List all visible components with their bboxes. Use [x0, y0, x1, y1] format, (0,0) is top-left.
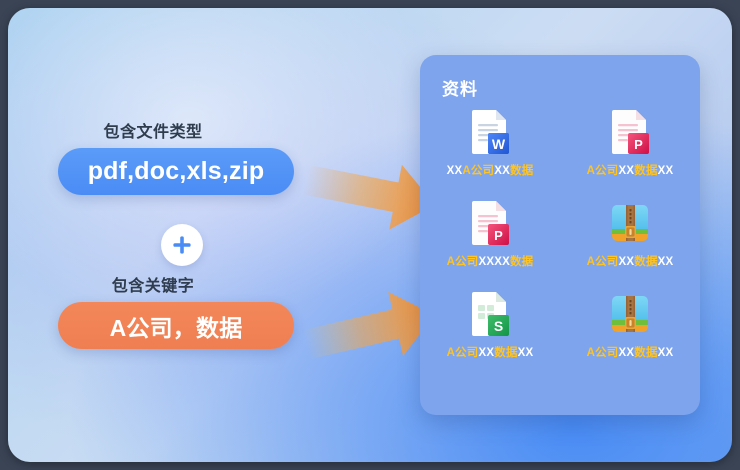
file-name-match: 数据	[634, 347, 657, 359]
file-name: A公司XX数据XX	[587, 162, 674, 178]
file-name-plain: XX	[447, 165, 463, 177]
file-name-plain: XX	[479, 347, 495, 359]
file-name-plain: XX	[658, 165, 674, 177]
word-document-icon: W	[467, 108, 513, 156]
file-name-plain: XXXX	[479, 256, 510, 268]
file-item[interactable]: P A公司XXXX数据	[420, 196, 560, 287]
file-name-match: A公司	[447, 347, 479, 359]
file-item[interactable]: W XXA公司XX数据	[420, 105, 560, 196]
file-name: XXA公司XX数据	[447, 162, 534, 178]
file-name-match: 数据	[634, 165, 657, 177]
plus-badge	[161, 224, 203, 266]
file-name-match: 数据	[634, 256, 657, 268]
file-name-match: A公司	[587, 165, 619, 177]
results-panel-title: 资料	[442, 75, 478, 100]
file-name-match: 数据	[510, 165, 533, 177]
zip-archive-icon	[607, 290, 653, 338]
file-item[interactable]: S A公司XX数据XX	[420, 287, 560, 378]
keyword-pill[interactable]: A公司，数据	[58, 302, 294, 349]
file-name-plain: XX	[494, 165, 510, 177]
results-panel: 资料 W XXA公司XX数据 P A公司XX数据XX	[420, 55, 700, 415]
file-name-match: A公司	[587, 256, 619, 268]
svg-text:P: P	[634, 137, 643, 152]
file-grid: W XXA公司XX数据 P A公司XX数据XX P A公司XXXX数据	[420, 105, 700, 378]
file-item[interactable]: A公司XX数据XX	[560, 196, 700, 287]
file-type-pill[interactable]: pdf,doc,xls,zip	[58, 148, 294, 195]
file-name-plain: XX	[619, 165, 635, 177]
file-item[interactable]: P A公司XX数据XX	[560, 105, 700, 196]
file-name-plain: XX	[658, 256, 674, 268]
svg-text:S: S	[494, 318, 503, 334]
illustration-card: 包含文件类型 pdf,doc,xls,zip 包含关键字 A公司，数据	[8, 8, 732, 462]
file-type-value: pdf,doc,xls,zip	[88, 157, 265, 186]
search-conditions-column: 包含文件类型 pdf,doc,xls,zip 包含关键字 A公司，数据	[8, 8, 368, 462]
screenshot-root: 包含文件类型 pdf,doc,xls,zip 包含关键字 A公司，数据	[0, 0, 740, 470]
file-name: A公司XX数据XX	[587, 344, 674, 360]
svg-text:P: P	[494, 228, 503, 243]
keyword-value: A公司，数据	[110, 309, 243, 343]
file-name-match: A公司	[462, 165, 494, 177]
svg-text:W: W	[492, 136, 506, 152]
file-name-match: A公司	[587, 347, 619, 359]
pdf-document-icon: P	[607, 108, 653, 156]
file-item[interactable]: A公司XX数据XX	[560, 287, 700, 378]
keyword-caption: 包含关键字	[8, 272, 298, 296]
spreadsheet-document-icon: S	[467, 290, 513, 338]
file-name-plain: XX	[658, 347, 674, 359]
file-name-match: A公司	[447, 256, 479, 268]
file-name: A公司XX数据XX	[447, 344, 534, 360]
file-name-match: 数据	[510, 256, 533, 268]
file-name-plain: XX	[619, 347, 635, 359]
zip-archive-icon	[607, 199, 653, 247]
file-name: A公司XXXX数据	[447, 253, 534, 269]
file-name: A公司XX数据XX	[587, 253, 674, 269]
file-name-plain: XX	[518, 347, 534, 359]
file-name-match: 数据	[494, 347, 517, 359]
plus-icon	[171, 234, 193, 256]
file-name-plain: XX	[619, 256, 635, 268]
file-type-caption: 包含文件类型	[8, 118, 298, 142]
pdf-document-icon: P	[467, 199, 513, 247]
